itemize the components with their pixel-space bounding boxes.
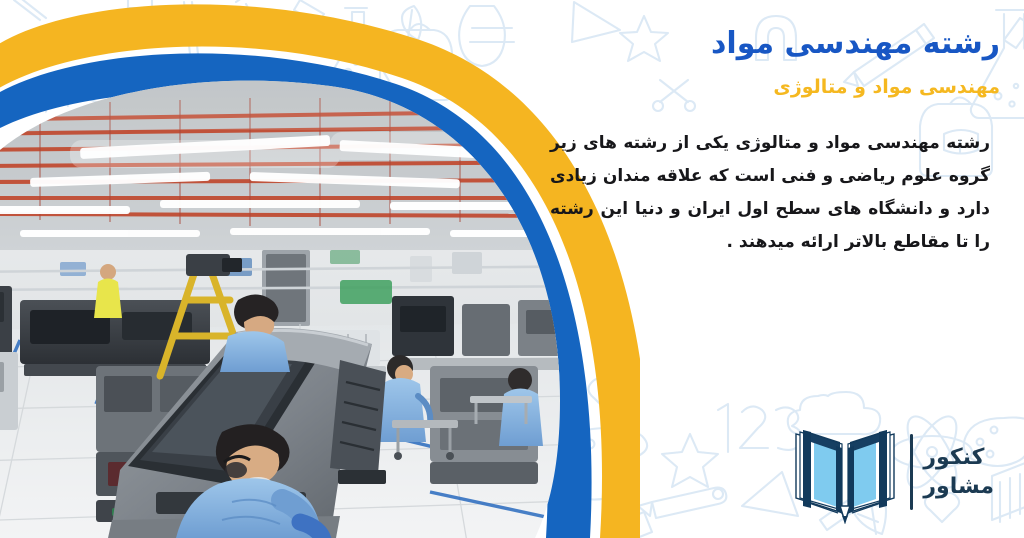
page-title: رشته مهندسی مواد — [550, 26, 1000, 62]
arc-photo-assembly — [0, 0, 640, 538]
logo-divider — [910, 434, 913, 510]
star-icon — [662, 434, 718, 487]
book-icon — [992, 462, 1024, 522]
brand-logo[interactable]: کنکور مشاور — [790, 420, 994, 524]
text-content-block: رشته مهندسی مواد مهندسی مواد و متالوژی ر… — [550, 26, 1000, 259]
paintbrush-icon — [1004, 18, 1024, 48]
logo-line-1: کنکور — [923, 445, 984, 470]
banner-root: رشته مهندسی مواد مهندسی مواد و متالوژی ر… — [0, 0, 1024, 538]
logo-line-2: مشاور — [923, 474, 994, 499]
open-book-with-pencil-icon — [790, 420, 900, 524]
pen-icon — [638, 488, 726, 518]
numbers-123-icon — [718, 404, 801, 452]
logo-wordmark: کنکور مشاور — [923, 445, 994, 500]
page-subtitle: مهندسی مواد و متالوژی — [550, 76, 1000, 99]
description-paragraph: رشته مهندسی مواد و متالوژی یکی از رشته ه… — [550, 127, 990, 260]
